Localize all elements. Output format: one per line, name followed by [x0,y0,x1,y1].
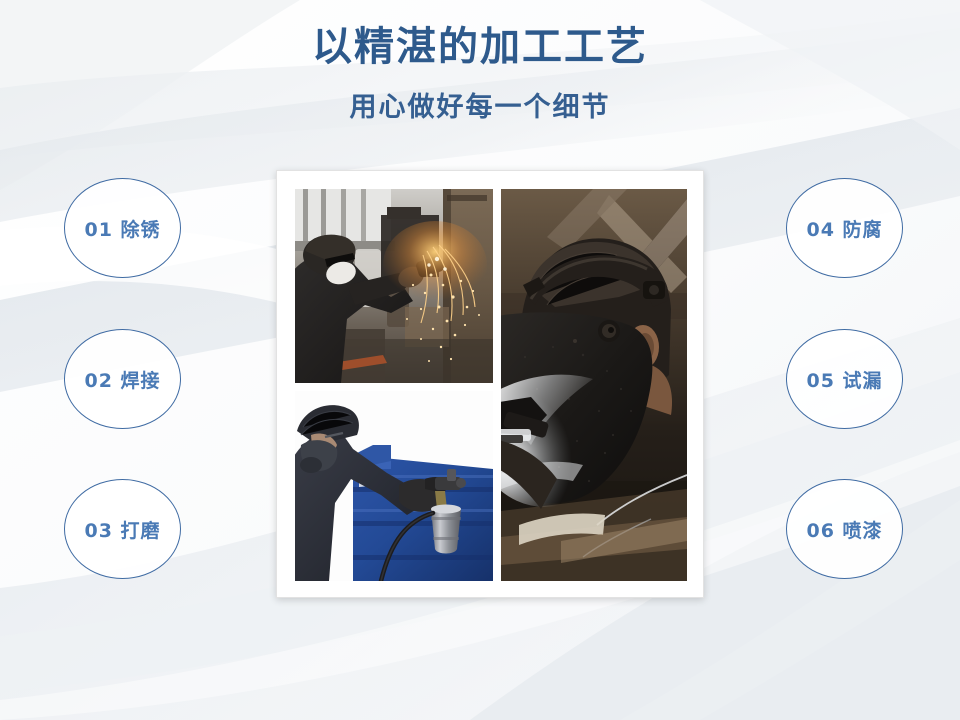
process-circle-06[interactable]: 06 喷漆 [786,479,903,579]
process-circle-04-label: 04 防腐 [806,215,882,242]
photo-grinding-image [295,189,493,383]
process-circle-01[interactable]: 01 除锈 [64,178,181,278]
photo-welding-image [501,189,687,581]
page-title: 以精湛的加工工艺 [0,24,960,70]
page-subtitle: 用心做好每一个细节 [0,92,960,123]
process-circle-02[interactable]: 02 焊接 [64,329,181,429]
process-circle-03[interactable]: 03 打磨 [64,479,181,579]
photo-welding [501,189,687,581]
slide-canvas: 以精湛的加工工艺 用心做好每一个细节 01 除锈 02 焊接 03 打磨 04 … [0,0,960,720]
title-block: 以精湛的加工工艺 用心做好每一个细节 [0,24,960,123]
process-circle-01-label: 01 除锈 [84,215,160,242]
process-circle-02-label: 02 焊接 [84,366,160,393]
process-circle-05-label: 05 试漏 [806,366,882,393]
process-circle-04[interactable]: 04 防腐 [786,178,903,278]
photo-collage-frame [276,170,704,598]
photo-collage-grid [295,189,685,579]
photo-spraying [295,391,493,581]
process-circle-03-label: 03 打磨 [84,516,160,543]
photo-spraying-image [295,391,493,581]
photo-grinding [295,189,493,383]
process-circle-06-label: 06 喷漆 [806,516,882,543]
process-circle-05[interactable]: 05 试漏 [786,329,903,429]
